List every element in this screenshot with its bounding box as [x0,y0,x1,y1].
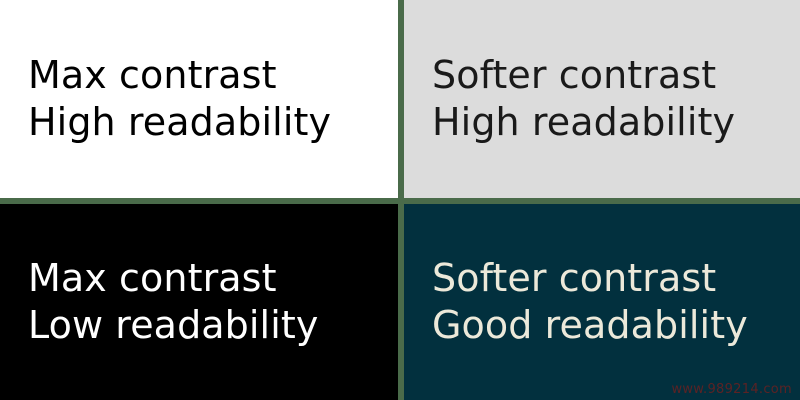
panel-softer-contrast-high-readability: Softer contrast High readability [404,0,800,198]
panel-line-1: Max contrast [28,52,388,99]
watermark-url: www.989214.com [671,382,792,397]
panel-text-block: Max contrast Low readability [0,255,398,349]
panel-line-2: High readability [28,99,388,146]
horizontal-divider [0,198,800,204]
panel-text-block: Softer contrast High readability [404,52,800,146]
panel-text-block: Softer contrast Good readability [404,255,800,349]
panel-line-2: Low readability [28,302,388,349]
panel-line-2: Good readability [432,302,790,349]
panel-line-2: High readability [432,99,790,146]
panel-softer-contrast-good-readability: Softer contrast Good readability [404,204,800,400]
contrast-comparison-figure: Max contrast High readability Softer con… [0,0,800,400]
panel-line-1: Softer contrast [432,255,790,302]
panel-line-1: Max contrast [28,255,388,302]
panel-text-block: Max contrast High readability [0,52,398,146]
panel-line-1: Softer contrast [432,52,790,99]
panel-max-contrast-high-readability: Max contrast High readability [0,0,398,198]
panel-max-contrast-low-readability: Max contrast Low readability [0,204,398,400]
